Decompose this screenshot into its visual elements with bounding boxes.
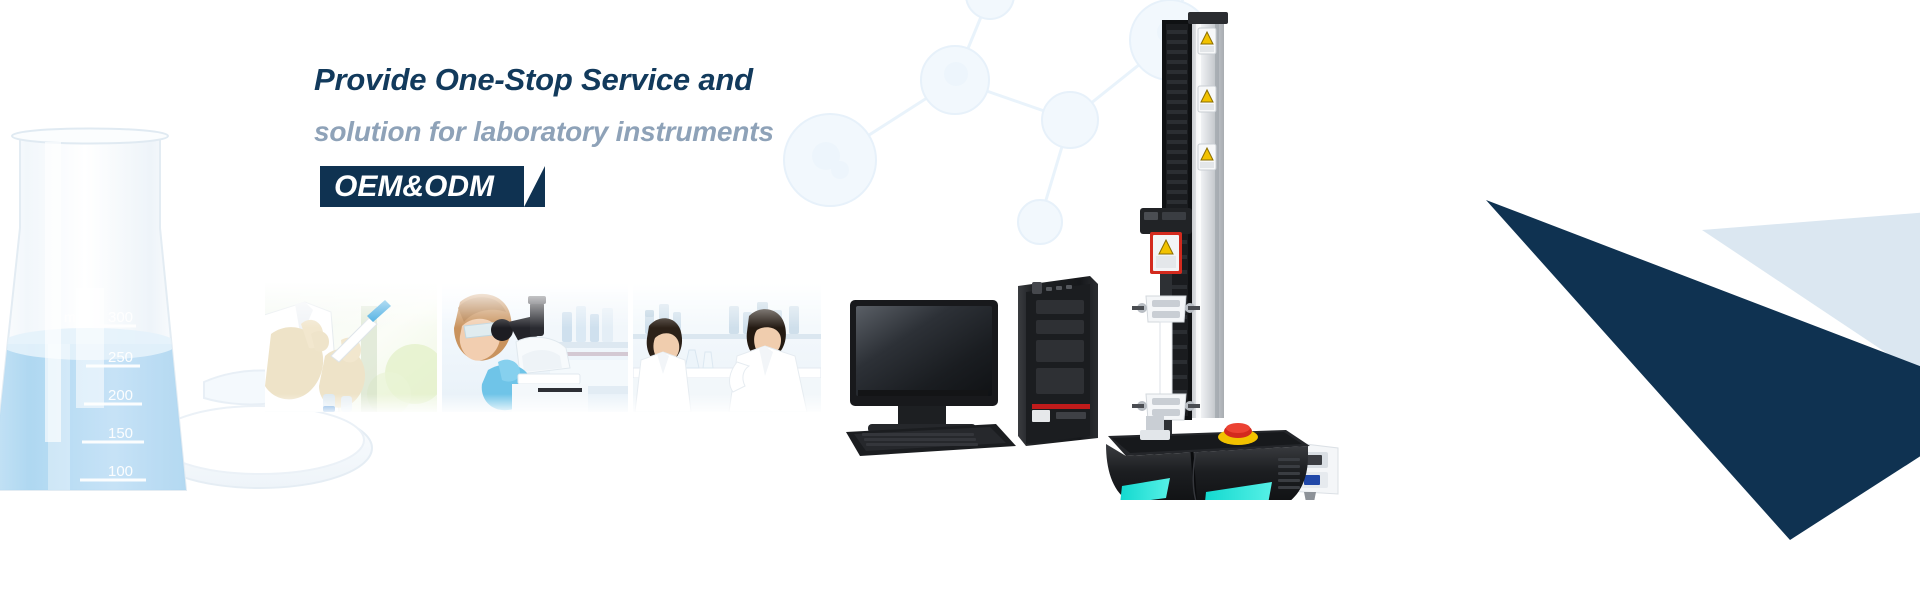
warning-label bbox=[1198, 86, 1216, 112]
warning-label bbox=[1198, 144, 1216, 170]
svg-text:300: 300 bbox=[108, 309, 133, 326]
svg-text:200: 200 bbox=[108, 387, 133, 404]
svg-text:100: 100 bbox=[108, 463, 133, 480]
instrument-cluster bbox=[840, 0, 1400, 500]
flask-body: 300 250 200 150 100 mL bbox=[0, 129, 210, 509]
photo-microscope bbox=[442, 282, 628, 412]
badge-label: OEM&ODM bbox=[334, 166, 494, 207]
lab-photo-strip bbox=[265, 282, 821, 412]
emergency-stop-button bbox=[1218, 423, 1258, 445]
oem-odm-badge: OEM&ODM bbox=[314, 166, 524, 207]
machine-base bbox=[1106, 416, 1338, 500]
badge-shape: OEM&ODM bbox=[320, 166, 524, 207]
universal-tensile-testing-machine bbox=[1106, 12, 1338, 500]
promo-banner: 300 250 200 150 100 mL Provide One-Stop … bbox=[0, 0, 1920, 597]
photo-pipetting bbox=[265, 282, 437, 412]
pc-tower bbox=[1018, 276, 1098, 446]
svg-text:250: 250 bbox=[108, 349, 133, 366]
warning-label bbox=[1198, 28, 1216, 54]
desktop-monitor bbox=[850, 300, 998, 433]
svg-text:150: 150 bbox=[108, 425, 133, 442]
svg-text:mL: mL bbox=[64, 309, 84, 325]
photo-researchers bbox=[633, 282, 821, 412]
